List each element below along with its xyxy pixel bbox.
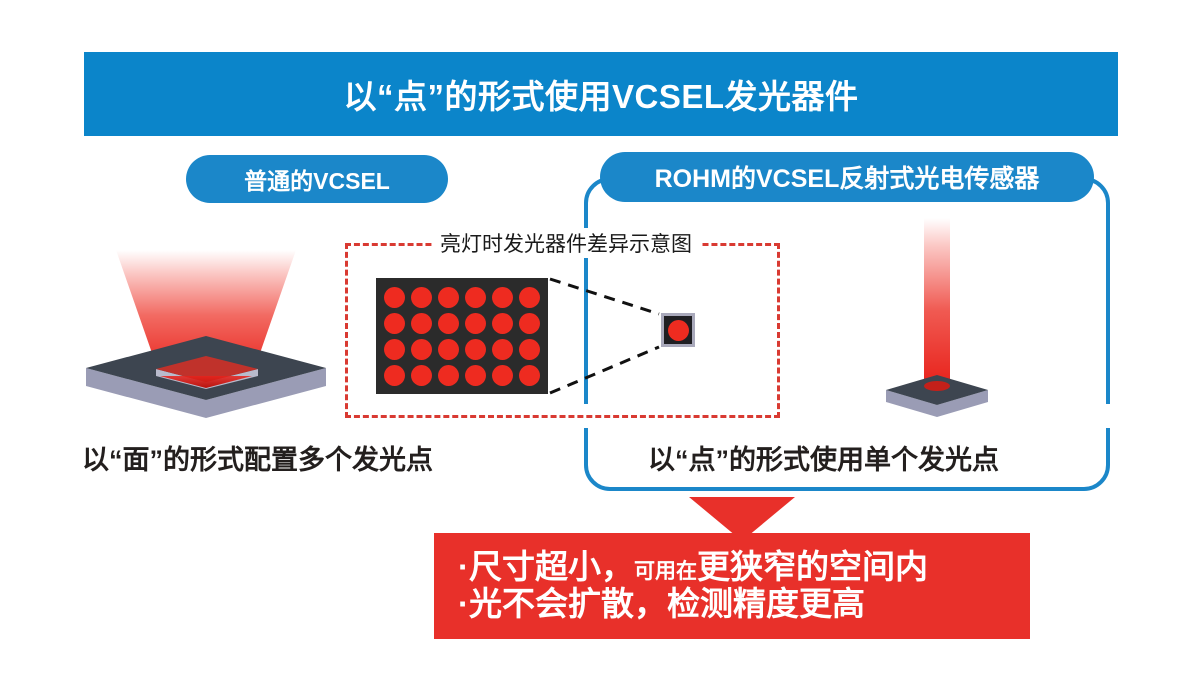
array-dot [465, 287, 486, 308]
standard-vcsel-device-illustration [86, 236, 326, 418]
array-dot [411, 313, 432, 334]
label-pill-standard-vcsel: 普通的VCSEL [186, 155, 448, 203]
array-dot [384, 287, 405, 308]
array-dot [519, 339, 540, 360]
array-dot [519, 365, 540, 386]
array-dot [465, 339, 486, 360]
pill-right-text: ROHM的VCSEL反射式光电传感器 [655, 159, 1040, 195]
callout-line1-part2: 可用在 [634, 560, 697, 584]
array-dot [438, 287, 459, 308]
callout-line2-text: ·光不会扩散，检测精度更高 [458, 586, 865, 623]
array-dot [519, 313, 540, 334]
array-dot [384, 365, 405, 386]
array-dot [492, 313, 513, 334]
array-dot [384, 339, 405, 360]
array-dot [438, 339, 459, 360]
array-dot [384, 313, 405, 334]
array-dot [465, 365, 486, 386]
array-dot [519, 287, 540, 308]
array-dot [411, 287, 432, 308]
page-title: 以“点”的形式使用VCSEL发光器件 [343, 70, 858, 118]
single-emitter-panel [661, 313, 695, 347]
vcsel-dot-array-panel [376, 278, 548, 394]
infographic-root: 以“点”的形式使用VCSEL发光器件 普通的VCSEL ROHM的VCSEL反射… [0, 0, 1200, 680]
dashed-box-label: 亮灯时发光器件差异示意图 [432, 228, 700, 258]
rohm-vcsel-device-illustration [872, 214, 1002, 422]
array-dot [438, 313, 459, 334]
array-dot [465, 313, 486, 334]
callout-line1-part1: ·尺寸超小， [458, 549, 634, 586]
benefits-callout: ·尺寸超小， 可用在 更狭窄的空间内 ·光不会扩散，检测精度更高 [434, 533, 1030, 639]
caption-standard-vcsel: 以“面”的形式配置多个发光点 [82, 438, 433, 477]
light-beam [924, 218, 950, 386]
beam-foot [924, 381, 950, 391]
array-dot [438, 365, 459, 386]
callout-line-1: ·尺寸超小， 可用在 更狭窄的空间内 [458, 549, 1030, 586]
border-mask-right [1100, 404, 1116, 428]
label-pill-rohm-vcsel: ROHM的VCSEL反射式光电传感器 [600, 152, 1094, 202]
callout-line1-part3: 更狭窄的空间内 [697, 549, 928, 586]
title-bar: 以“点”的形式使用VCSEL发光器件 [84, 52, 1118, 136]
array-dot [492, 365, 513, 386]
pill-left-text: 普通的VCSEL [244, 162, 390, 196]
single-emitter-dot [668, 320, 689, 341]
array-dot [411, 365, 432, 386]
callout-line-2: ·光不会扩散，检测精度更高 [458, 586, 1030, 623]
array-dot [411, 339, 432, 360]
array-dot [492, 339, 513, 360]
array-dot [492, 287, 513, 308]
